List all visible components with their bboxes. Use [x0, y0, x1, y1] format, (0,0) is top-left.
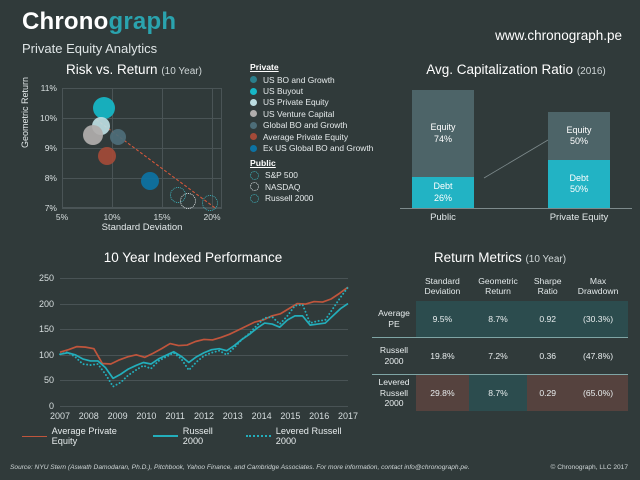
legend-item-label: US Private Equity: [263, 97, 329, 107]
line-x-tick: 2014: [252, 411, 272, 421]
line-y-tick: 150: [39, 324, 54, 334]
cap-bar[interactable]: Equity74%Debt26%: [412, 90, 474, 208]
table-column-header: MaxDrawdown: [568, 276, 628, 301]
line-y-tick: 200: [39, 299, 54, 309]
table-row-label: Russell2000: [372, 337, 416, 374]
brand-logo: Chronograph: [22, 10, 176, 34]
line-x-tick: 2015: [280, 411, 300, 421]
y-axis-tick: 11%: [41, 83, 57, 93]
legend-item[interactable]: US Private Equity: [250, 97, 400, 108]
legend-swatch-icon: [250, 110, 257, 117]
legend-item-label: Average Private Equity: [263, 132, 348, 142]
table-cell: 7.2%: [469, 337, 527, 374]
table-column-header: GeometricReturn: [469, 276, 527, 301]
table-cell: 8.7%: [469, 301, 527, 338]
line-series-svg: [60, 278, 348, 406]
indexed-performance-chart: 10 Year Indexed Performance 050100150200…: [18, 250, 368, 450]
x-axis-tick: 10%: [103, 212, 120, 222]
y-axis-tick: 10%: [40, 113, 57, 123]
table-header-row: StandardDeviationGeometricReturnSharpeRa…: [372, 276, 628, 301]
table-row[interactable]: Russell200019.8%7.2%0.36(47.8%): [372, 337, 628, 374]
column-header-line1: Max: [568, 276, 628, 286]
legend-swatch-icon: [250, 99, 257, 106]
column-header-line1: Sharpe: [527, 276, 568, 286]
cap-category-label: Private Equity: [524, 212, 634, 223]
table-cell: 8.7%: [469, 374, 527, 411]
legend-head-private: Private: [250, 62, 400, 72]
line-x-tick: 2012: [194, 411, 214, 421]
row-label-line: Russell: [372, 388, 416, 399]
line-y-tick: 100: [39, 350, 54, 360]
cap-debt-segment: Debt50%: [548, 160, 610, 208]
gridline-horizontal: [62, 208, 222, 209]
table-cell: (65.0%): [568, 374, 628, 411]
line-x-tick: 2007: [50, 411, 70, 421]
row-label-line: 2000: [372, 398, 416, 409]
line-gridline: [60, 406, 348, 407]
legend-item-label: Russell 2000: [265, 193, 313, 203]
metrics-table: StandardDeviationGeometricReturnSharpeRa…: [372, 276, 628, 411]
cap-plot-area: Equity74%Debt26%Equity50%Debt50%: [408, 90, 624, 208]
table-corner-cell: [372, 276, 416, 301]
risk-return-title-main: Risk vs. Return: [66, 62, 158, 77]
cap-equity-label: Equity: [566, 125, 591, 136]
cap-equity-value: 74%: [434, 134, 452, 145]
line-x-tick: 2017: [338, 411, 358, 421]
legend-item[interactable]: S&P 500: [250, 170, 400, 181]
line-y-tick: 50: [44, 375, 54, 385]
scatter-point[interactable]: [141, 172, 159, 190]
scatter-point[interactable]: [202, 195, 218, 211]
y-axis-tick: 9%: [45, 143, 57, 153]
risk-return-ylabel: Geometric Return: [20, 77, 30, 148]
scatter-point[interactable]: [180, 193, 196, 209]
cap-debt-label: Debt: [433, 181, 452, 192]
risk-return-chart: Risk vs. Return (10 Year) Geometric Retu…: [18, 62, 250, 242]
cap-bar[interactable]: Equity50%Debt50%: [548, 112, 610, 208]
legend-swatch-icon: [250, 76, 257, 83]
table-title-sub: (10 Year): [525, 254, 566, 265]
cap-equity-segment: Equity50%: [548, 112, 610, 160]
line-y-tick: 0: [49, 401, 54, 411]
cap-debt-value: 26%: [434, 193, 452, 204]
table-title: Return Metrics (10 Year): [372, 250, 628, 265]
row-label-line: Russell: [372, 345, 416, 356]
x-axis-tick: 5%: [56, 212, 68, 222]
cap-debt-segment: Debt26%: [412, 177, 474, 208]
line-x-tick: 2009: [108, 411, 128, 421]
table-row[interactable]: AveragePE9.5%8.7%0.92(30.3%): [372, 301, 628, 338]
legend-swatch-icon: [250, 133, 257, 140]
legend-item-label: NASDAQ: [265, 182, 300, 192]
row-label-line: Levered: [372, 377, 416, 388]
x-axis-tick: 15%: [153, 212, 170, 222]
cap-title-main: Avg. Capitalization Ratio: [426, 62, 573, 77]
scatter-point[interactable]: [83, 125, 103, 145]
brand-name-second: graph: [109, 8, 177, 35]
row-label-line: 2000: [372, 356, 416, 367]
line-x-tick: 2010: [136, 411, 156, 421]
cap-debt-value: 50%: [570, 184, 588, 195]
table-column-header: SharpeRatio: [527, 276, 568, 301]
cap-equity-label: Equity: [430, 122, 455, 133]
table-cell: 19.8%: [416, 337, 469, 374]
legend-swatch-icon: [250, 145, 257, 152]
table-column-header: StandardDeviation: [416, 276, 469, 301]
legend-public-items: S&P 500NASDAQRussell 2000: [250, 170, 400, 204]
line-legend-label: Russell 2000: [183, 426, 233, 446]
legend-head-public: Public: [250, 158, 400, 168]
legend-item-label: US BO and Growth: [263, 75, 335, 85]
cap-equity-value: 50%: [570, 136, 588, 147]
table-cell: 0.29: [527, 374, 568, 411]
line-plot-area: 050100150200250 200720082009201020112012…: [60, 278, 348, 406]
risk-return-title: Risk vs. Return (10 Year): [18, 62, 250, 77]
legend-item-label: S&P 500: [265, 170, 298, 180]
legend-item[interactable]: Russell 2000: [250, 193, 400, 204]
cap-equity-segment: Equity74%: [412, 90, 474, 177]
table-cell: 29.8%: [416, 374, 469, 411]
table-title-main: Return Metrics: [434, 250, 522, 265]
column-header-line2: Drawdown: [568, 286, 628, 296]
line-legend-swatch-icon: [153, 435, 178, 437]
legend-item[interactable]: US Buyout: [250, 85, 400, 96]
column-header-line2: Return: [469, 286, 527, 296]
legend-swatch-icon: [250, 88, 257, 95]
line-y-tick: 250: [39, 273, 54, 283]
y-axis-tick: 8%: [45, 173, 57, 183]
column-header-line2: Ratio: [527, 286, 568, 296]
table-row[interactable]: LeveredRussell200029.8%8.7%0.29(65.0%): [372, 374, 628, 411]
row-label-line: Average: [372, 308, 416, 319]
table-row-label: LeveredRussell2000: [372, 374, 416, 411]
line-legend: Average Private EquityRussell 2000Levere…: [22, 426, 368, 446]
legend-swatch-icon: [250, 171, 259, 180]
legend-swatch-icon: [250, 194, 259, 203]
risk-return-plot-area: 7%8%9%10%11% 5%10%15%20%: [62, 88, 222, 208]
cap-category-label: Public: [388, 212, 498, 223]
line-legend-label: Levered Russell 2000: [276, 426, 360, 446]
table-row-label: AveragePE: [372, 301, 416, 338]
brand-tagline: Private Equity Analytics: [22, 41, 176, 56]
cap-debt-label: Debt: [569, 173, 588, 184]
dashboard-root: Chronograph Private Equity Analytics www…: [0, 0, 640, 480]
risk-return-title-sub: (10 Year): [161, 66, 202, 77]
legend-item-label: US Buyout: [263, 86, 303, 96]
line-legend-swatch-icon: [22, 436, 47, 437]
legend-private-items: US BO and GrowthUS BuyoutUS Private Equi…: [250, 74, 400, 154]
legend-item-label: US Venture Capital: [263, 109, 334, 119]
cap-title-sub: (2016): [577, 66, 606, 77]
table-cell: 9.5%: [416, 301, 469, 338]
legend-item[interactable]: US BO and Growth: [250, 74, 400, 85]
return-metrics-table: Return Metrics (10 Year) StandardDeviati…: [372, 250, 628, 450]
scatter-point[interactable]: [93, 97, 115, 119]
legend-item[interactable]: NASDAQ: [250, 181, 400, 192]
legend-item[interactable]: Global BO and Growth: [250, 120, 400, 131]
legend-swatch-icon: [250, 122, 257, 129]
table-cell: (30.3%): [568, 301, 628, 338]
column-header-line1: Standard: [416, 276, 469, 286]
legend-item-label: Ex US Global BO and Growth: [263, 143, 373, 153]
line-series: [60, 304, 348, 379]
line-x-tick: 2008: [79, 411, 99, 421]
website-url[interactable]: www.chronograph.pe: [495, 28, 622, 43]
table-cell: (47.8%): [568, 337, 628, 374]
risk-return-trendline: [62, 88, 222, 208]
legend-item-label: Global BO and Growth: [263, 120, 347, 130]
copyright-notice: © Chronograph, LLC 2017: [551, 464, 628, 471]
risk-return-xlabel: Standard Deviation: [62, 222, 222, 233]
legend-swatch-icon: [250, 182, 259, 191]
legend-item[interactable]: Ex US Global BO and Growth: [250, 142, 400, 153]
capitalization-ratio-chart: Avg. Capitalization Ratio (2016) Equity7…: [400, 62, 632, 242]
column-header-line1: Geometric: [469, 276, 527, 286]
legend-item[interactable]: Average Private Equity: [250, 131, 400, 142]
table-cell: 0.92: [527, 301, 568, 338]
chart-legend: Private US BO and GrowthUS BuyoutUS Priv…: [250, 62, 400, 204]
line-x-tick: 2016: [309, 411, 329, 421]
scatter-point[interactable]: [98, 147, 116, 165]
row-label-line: PE: [372, 319, 416, 330]
line-legend-swatch-icon: [246, 435, 271, 437]
scatter-point[interactable]: [110, 129, 126, 145]
line-title: 10 Year Indexed Performance: [18, 250, 368, 265]
table-body: AveragePE9.5%8.7%0.92(30.3%)Russell20001…: [372, 301, 628, 411]
x-axis-tick: 20%: [203, 212, 220, 222]
source-footnote: Source: NYU Stern (Aswath Damodaran, Ph.…: [10, 464, 470, 471]
cap-baseline: [400, 208, 632, 209]
brand-block: Chronograph Private Equity Analytics: [22, 10, 176, 56]
brand-name-first: Chrono: [22, 8, 109, 35]
line-series: [60, 287, 348, 386]
line-x-tick: 2011: [166, 411, 185, 421]
table-cell: 0.36: [527, 337, 568, 374]
column-header-line2: Deviation: [416, 286, 469, 296]
legend-item[interactable]: US Venture Capital: [250, 108, 400, 119]
line-legend-label: Average Private Equity: [52, 426, 140, 446]
line-x-tick: 2013: [223, 411, 243, 421]
cap-title: Avg. Capitalization Ratio (2016): [400, 62, 632, 77]
